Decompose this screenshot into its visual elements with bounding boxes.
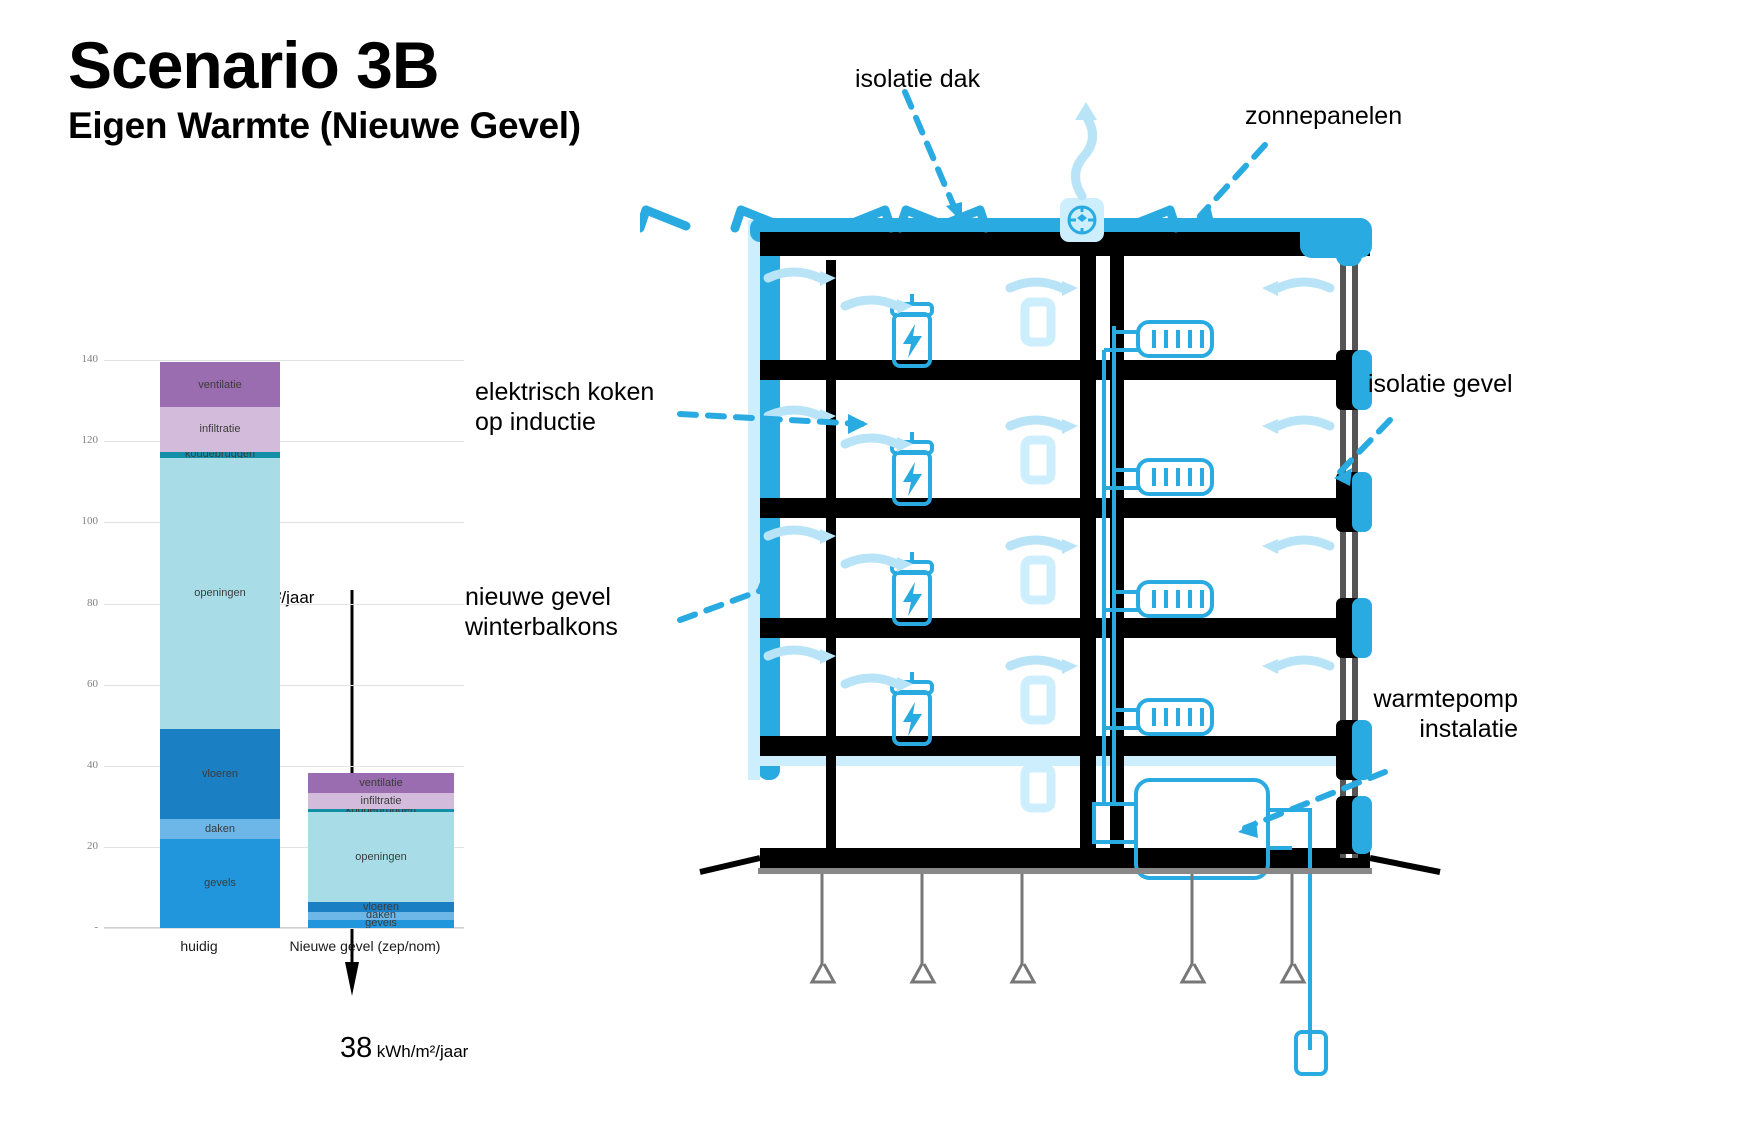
bar-segment-gevels[interactable]: gevels [308, 920, 454, 928]
bar-segment-label: gevels [204, 877, 236, 889]
bar-nieuwe-gevel[interactable]: ventilatieinfiltratiekoudebruggenopening… [308, 773, 454, 928]
y-axis-tick-label: 20 [62, 840, 98, 852]
bar-segment-daken[interactable]: daken [160, 819, 280, 839]
gridline [104, 604, 464, 605]
annotation-warmtepomp-instalatie: warmtepomp instalatie [1343, 685, 1518, 744]
callout-target-total: 38 kWh/m²/jaar [340, 1032, 468, 1065]
building-section-diagram: isolatie dak zonnepanelen isolatie gevel… [640, 20, 1740, 1110]
bar-segment-label: infiltratie [361, 795, 402, 807]
bar-segment-daken[interactable]: daken [308, 912, 454, 920]
bar-segment-infiltratie[interactable]: infiltratie [160, 407, 280, 452]
bar-segment-infiltratie[interactable]: infiltratie [308, 793, 454, 809]
bar-segment-openingen[interactable]: openingen [308, 812, 454, 901]
callout-target-unit: kWh/m²/jaar [377, 1042, 469, 1061]
bar-segment-label: openingen [355, 851, 406, 863]
annotation-elektrisch-koken: elektrisch koken op inductie [475, 378, 654, 437]
bar-segment-label: ventilatie [359, 777, 402, 789]
bar-segment-gevels[interactable]: gevels [160, 839, 280, 928]
leader-isolatie-dak [905, 92, 958, 216]
building-svg [640, 20, 1740, 1110]
gridline [104, 360, 464, 361]
callout-target-value: 38 [340, 1032, 372, 1064]
bar-segment-vloeren[interactable]: vloeren [160, 729, 280, 818]
ventilation-unit-icon [1060, 102, 1104, 242]
gridline [104, 766, 464, 767]
foundation-piles [812, 874, 1304, 982]
annotation-isolatie-gevel: isolatie gevel [1368, 370, 1513, 400]
page-title: Scenario 3B [68, 32, 581, 99]
gridline [104, 441, 464, 442]
annotation-isolatie-dak: isolatie dak [855, 65, 980, 95]
gridline [104, 522, 464, 523]
bar-segment-label: vloeren [363, 902, 399, 912]
bar-segment-label: daken [205, 823, 235, 835]
bar-segment-vloeren[interactable]: vloeren [308, 902, 454, 912]
bar-segment-label: vloeren [202, 768, 238, 780]
gridline [104, 928, 464, 929]
bar-segment-label: infiltratie [200, 423, 241, 435]
bar-huidig[interactable]: ventilatieinfiltratiekoudebruggenopening… [160, 362, 280, 928]
bar-segment-openingen[interactable]: openingen [160, 458, 280, 730]
page-subtitle: Eigen Warmte (Nieuwe Gevel) [68, 105, 581, 147]
y-axis-tick-label: 80 [62, 597, 98, 609]
gridline [104, 685, 464, 686]
bar-segment-label: ventilatie [198, 379, 241, 391]
y-axis-tick-label: 140 [62, 353, 98, 365]
y-axis-tick-label: 60 [62, 678, 98, 690]
y-axis-tick-label: 120 [62, 434, 98, 446]
annotation-nieuwe-gevel-winterbalkons: nieuwe gevel winterbalkons [465, 583, 618, 642]
y-axis-tick-label: - [62, 921, 98, 933]
bar-segment-label: gevels [365, 920, 397, 928]
title-block: Scenario 3B Eigen Warmte (Nieuwe Gevel) [68, 32, 581, 147]
bar-segment-label: daken [366, 912, 396, 920]
bar-segment-ventilatie[interactable]: ventilatie [308, 773, 454, 793]
energy-stacked-bar-chart: 136 kWh/m²/jaar 38 kWh/m²/jaar 140120100… [60, 290, 480, 980]
leader-zonnepanelen [1200, 145, 1265, 216]
bar-segment-label: openingen [194, 587, 245, 599]
x-axis-label-nieuwe-gevel: Nieuwe gevel (zep/nom) [250, 938, 480, 954]
y-axis-tick-label: 100 [62, 515, 98, 527]
floor-slabs [760, 360, 1370, 868]
plot-area: 14012010080604020- ventilatieinfiltratie… [104, 340, 464, 928]
y-axis-tick-label: 40 [62, 759, 98, 771]
bar-segment-ventilatie[interactable]: ventilatie [160, 362, 280, 407]
right-facade-wall [1336, 220, 1372, 858]
annotation-zonnepanelen: zonnepanelen [1245, 102, 1402, 132]
winterbalcony-inner-wall [826, 260, 836, 848]
